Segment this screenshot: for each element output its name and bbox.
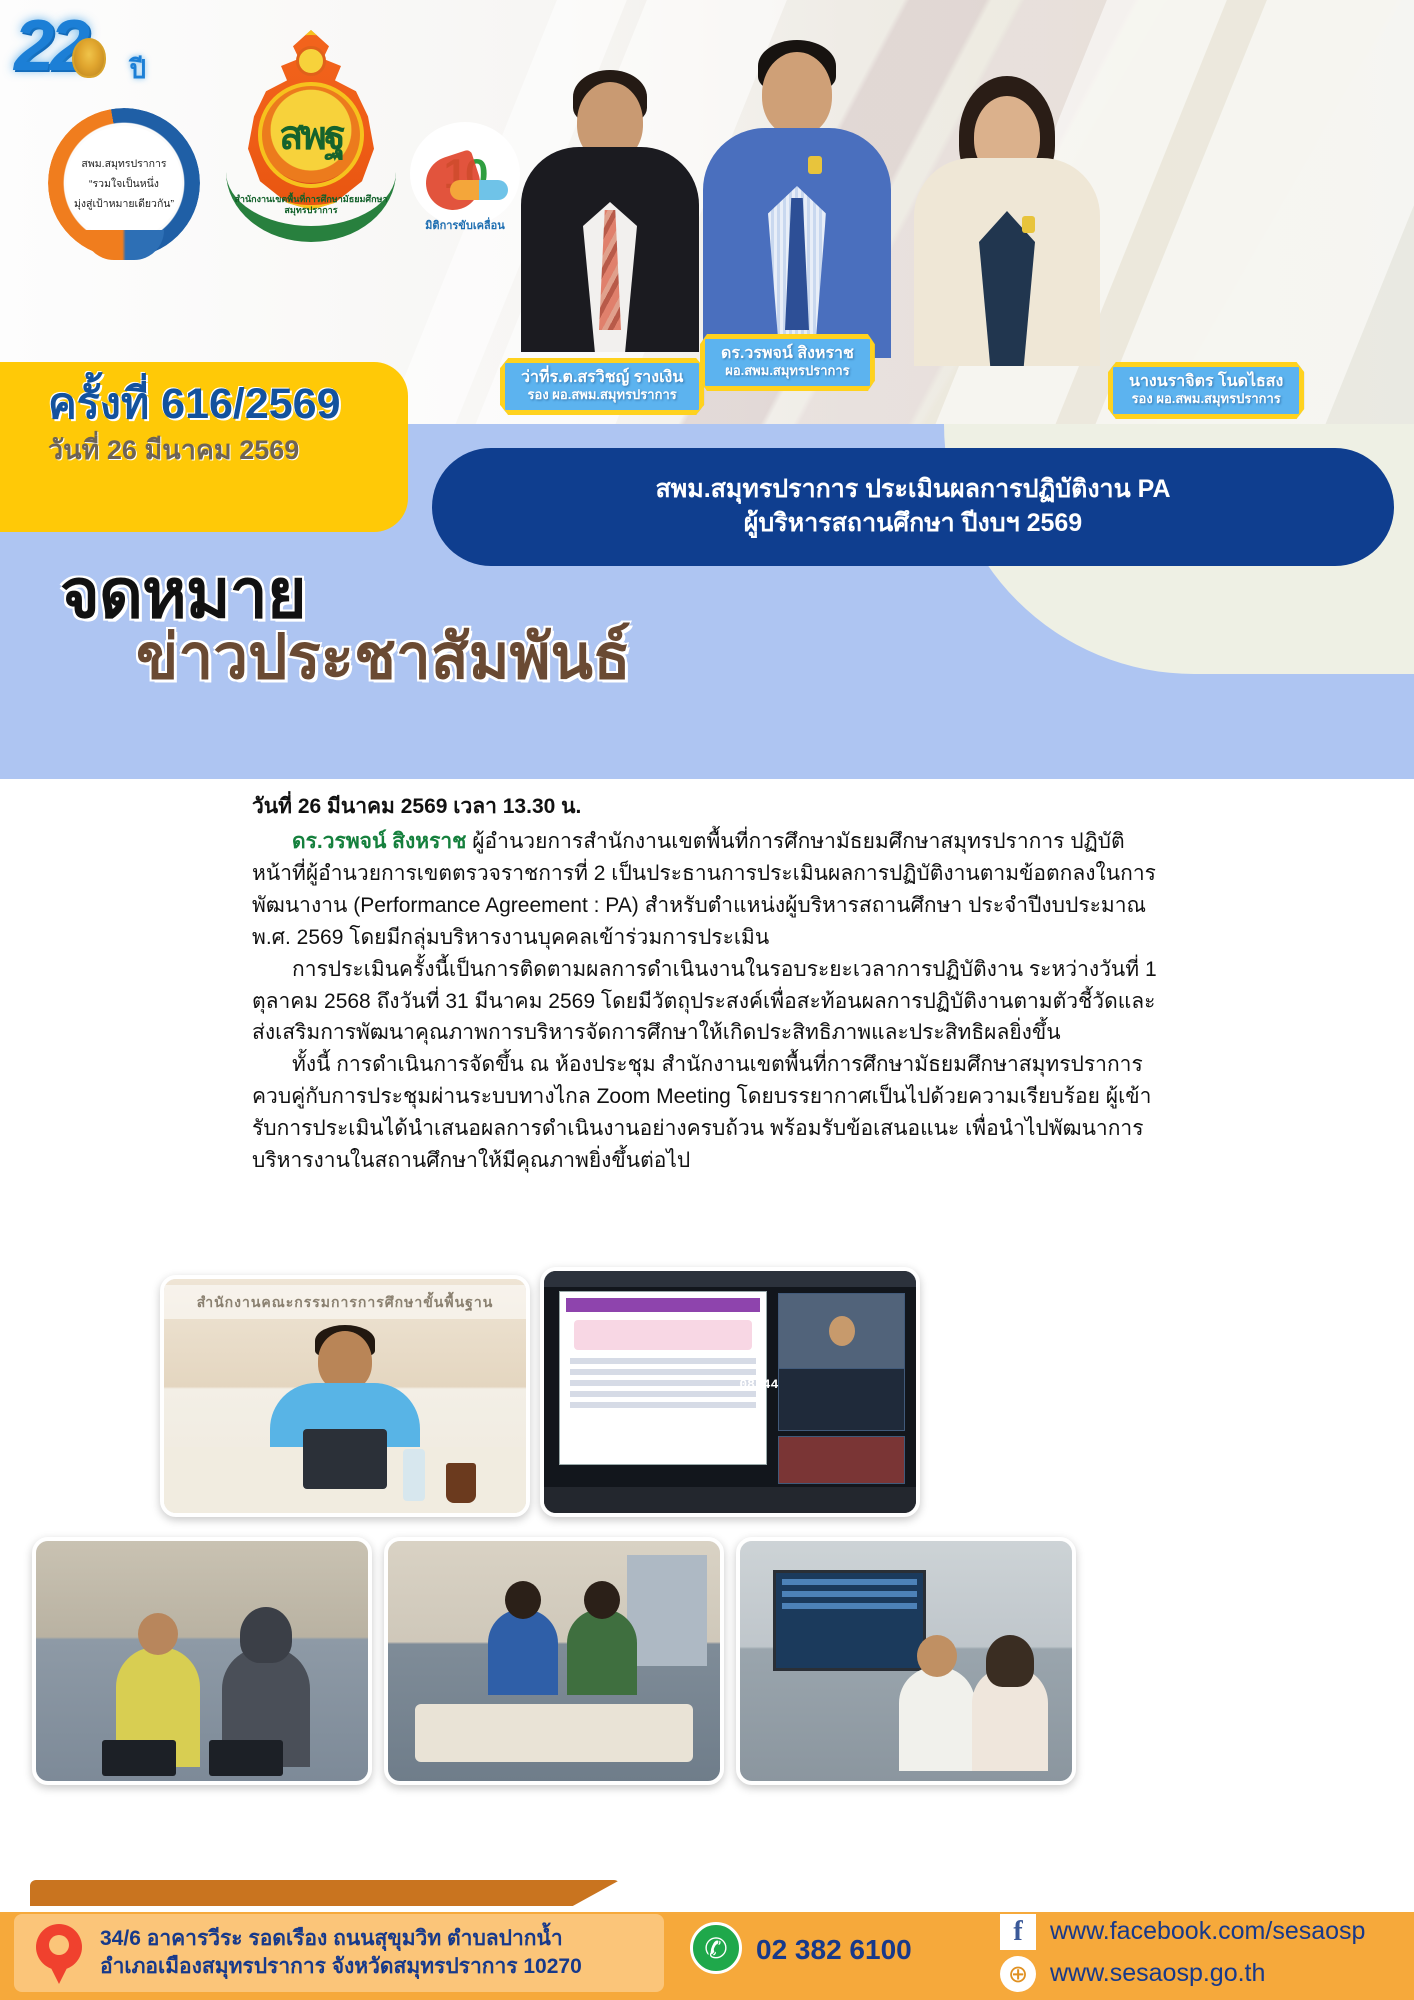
- meeting-timer: 08:44: [739, 1377, 778, 1392]
- headline-line-2: ข่าวประชาสัมพันธ์: [136, 625, 960, 690]
- person-role: ผอ.สพม.สมุทรปราการ: [721, 363, 854, 379]
- slogan-inner: สพม.สมุทรปราการ “รวมใจเป็นหนึ่ง มุ่งสู่เ…: [66, 126, 182, 240]
- lapel-pin-icon: [808, 156, 822, 174]
- seal-top-medallion-icon: [296, 46, 326, 76]
- photo-director-desk: สำนักงานคณะกรรมการการศึกษาขั้นพื้นฐาน: [160, 1275, 530, 1517]
- person-name: ว่าที่ร.ต.สรวิชญ์ รางเงิน: [521, 369, 683, 387]
- page-title: จดหมาย ข่าวประชาสัมพันธ์: [60, 560, 960, 690]
- person-role: รอง ผอ.สพม.สมุทรปราการ: [521, 387, 683, 403]
- water-bottle-icon: [403, 1449, 425, 1501]
- display-screen-icon: [773, 1570, 926, 1671]
- issue-badge: ครั้งที่ 616/2569 วันที่ 26 มีนาคม 2569: [0, 362, 408, 532]
- article-paragraph-3: ทั้งนี้ การดำเนินการจัดขึ้น ณ ห้องประชุม…: [252, 1049, 1172, 1177]
- facebook-icon[interactable]: f: [1000, 1914, 1036, 1950]
- slogan-org: สพม.สมุทรปราการ: [81, 155, 166, 172]
- ten-policy-badge: 10 มิติการขับเคลื่อน: [396, 108, 534, 240]
- coffee-cup-icon: [446, 1463, 476, 1503]
- address-block: 34/6 อาคารวีระ รอดเรือง ถนนสุขุมวิท ตำบล…: [14, 1914, 664, 1992]
- address-line-2: อำเภอเมืองสมุทรปราการ จังหวัดสมุทรปราการ…: [100, 1953, 582, 1981]
- lapel-pin-icon: [1022, 216, 1035, 233]
- seal-glyph: สพฐ: [279, 103, 343, 167]
- facebook-url[interactable]: www.facebook.com/sesaosp: [1050, 1917, 1365, 1946]
- name-tag-center: ดร.วรพจน์ สิงหราช ผอ.สพม.สมุทรปราการ: [700, 334, 875, 391]
- headline-title-pill: สพม.สมุทรปราการ ประเมินผลการปฏิบัติงาน P…: [432, 448, 1394, 566]
- article-paragraph-1: ดร.วรพจน์ สิงหราช ผู้อำนวยการสำนักงานเขต…: [252, 826, 1172, 954]
- photo-staff-laptops: [32, 1537, 372, 1785]
- portrait-right: [912, 66, 1102, 366]
- handshake-icon: [84, 230, 164, 260]
- name-tag-right: นางนราจิตร โนดไธสง รอง ผอ.สพม.สมุทรปรากา…: [1108, 362, 1304, 419]
- tablet-icon: [303, 1429, 387, 1489]
- photo-banner-text: สำนักงานคณะกรรมการการศึกษาขั้นพื้นฐาน: [164, 1285, 526, 1319]
- name-tag-left: ว่าที่ร.ต.สรวิชญ์ รางเงิน รอง ผอ.สพม.สมุ…: [500, 358, 704, 415]
- newsletter-poster: 22 ปี สพม.สมุทรปราการ “รวมใจเป็นหนึ่ง มุ…: [0, 0, 1414, 2000]
- location-pin-icon: [36, 1924, 82, 1986]
- slogan-line-2: มุ่งสู่เป้าหมายเดียวกัน”: [74, 195, 174, 212]
- title-line-2: ผู้บริหารสถานศึกษา ปีงบฯ 2569: [744, 507, 1082, 541]
- issue-date: วันที่ 26 มีนาคม 2569: [48, 433, 408, 468]
- phone-number[interactable]: 02 382 6100: [756, 1934, 912, 1966]
- photo-office-screen: [736, 1537, 1076, 1785]
- laptop-icon: [102, 1740, 176, 1776]
- handshake-circle-logo: สพม.สมุทรปราการ “รวมใจเป็นหนึ่ง มุ่งสู่เ…: [48, 108, 200, 258]
- portrait-left: [520, 52, 700, 352]
- policy-label: มิติการขับเคลื่อน: [396, 216, 534, 234]
- person-role: รอง ผอ.สพม.สมุทรปราการ: [1129, 391, 1283, 407]
- headline-line-1: จดหมาย: [60, 560, 960, 629]
- person-name: นางนราจิตร โนดไธสง: [1129, 373, 1283, 391]
- article-body: วันที่ 26 มีนาคม 2569 เวลา 13.30 น. ดร.ว…: [252, 790, 1172, 1177]
- policy-hands-icon: [450, 180, 508, 200]
- seal-caption: สำนักงานเขตพื้นที่การศึกษามัธยมศึกษาสมุท…: [218, 194, 404, 216]
- globe-icon[interactable]: ⊕: [1000, 1956, 1036, 1992]
- article-datetime: วันที่ 26 มีนาคม 2569 เวลา 13.30 น.: [252, 790, 1172, 823]
- person-name: ดร.วรพจน์ สิงหราช: [721, 345, 854, 363]
- photo-meeting-room: [384, 1537, 724, 1785]
- portrait-center: [702, 28, 892, 358]
- address-tab-shadow: [30, 1880, 620, 1906]
- slogan-line-1: “รวมใจเป็นหนึ่ง: [89, 175, 159, 192]
- laptop-icon: [209, 1740, 283, 1776]
- anniversary-22-years-logo: 22 ปี: [14, 12, 154, 102]
- phone-icon: ✆: [690, 1922, 742, 1974]
- government-seal: สพฐ สำนักงานเขตพื้นที่การศึกษามัธยมศึกษา…: [218, 22, 404, 252]
- article-paragraph-2: การประเมินครั้งนี้เป็นการติดตามผลการดำเน…: [252, 954, 1172, 1050]
- address-line-1: 34/6 อาคารวีระ รอดเรือง ถนนสุขุมวิท ตำบล…: [100, 1925, 582, 1953]
- highlighted-person-name: ดร.วรพจน์ สิงหราช: [292, 830, 466, 853]
- title-line-1: สพม.สมุทรปราการ ประเมินผลการปฏิบัติงาน P…: [655, 473, 1170, 507]
- website-url[interactable]: www.sesaosp.go.th: [1050, 1959, 1265, 1988]
- policy-inner: 10: [410, 122, 520, 226]
- issue-number: ครั้งที่ 616/2569: [48, 380, 408, 429]
- anniversary-seal-icon: [72, 38, 106, 78]
- photo-zoom-meeting: 08:44: [540, 1267, 920, 1517]
- anniversary-unit: ปี: [129, 49, 146, 90]
- footer: 34/6 อาคารวีระ รอดเรือง ถนนสุขุมวิท ตำบล…: [0, 1892, 1414, 2000]
